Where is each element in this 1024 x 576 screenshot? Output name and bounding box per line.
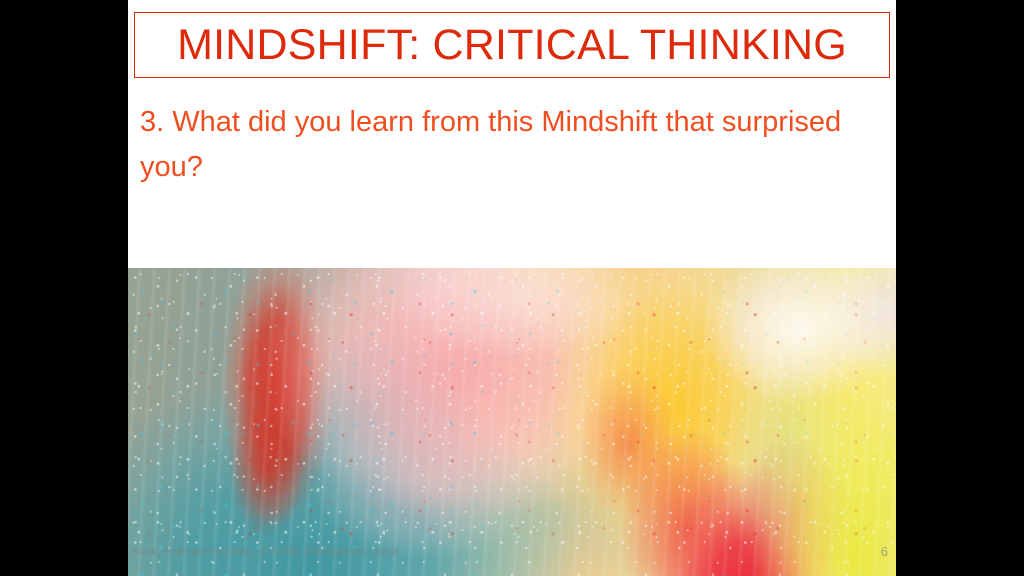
slide-number: 6 xyxy=(881,545,888,558)
slide-canvas: MINDSHIFT: CRITICAL THINKING 3. What did… xyxy=(128,0,896,576)
image-layer-red-flecks xyxy=(128,268,896,576)
powder-explosion-image: Neck, Entrepreneurship, © SAGE Publicati… xyxy=(128,268,896,576)
slide-body-block: 3. What did you learn from this Mindshif… xyxy=(140,100,850,190)
slide-viewport: MINDSHIFT: CRITICAL THINKING 3. What did… xyxy=(0,0,1024,576)
page-title: MINDSHIFT: CRITICAL THINKING xyxy=(177,24,847,67)
question-text: 3. What did you learn from this Mindshif… xyxy=(140,100,850,190)
slide-title-box: MINDSHIFT: CRITICAL THINKING xyxy=(134,12,890,78)
